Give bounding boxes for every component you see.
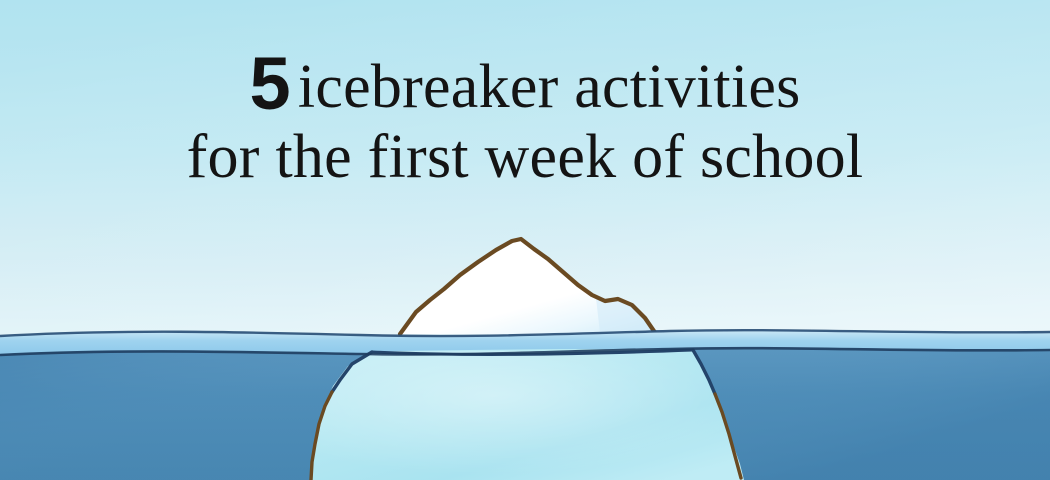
iceberg-scene — [0, 0, 1050, 480]
iceberg-mass-below-water — [311, 349, 744, 480]
header-illustration: 5icebreaker activities for the first wee… — [0, 0, 1050, 480]
